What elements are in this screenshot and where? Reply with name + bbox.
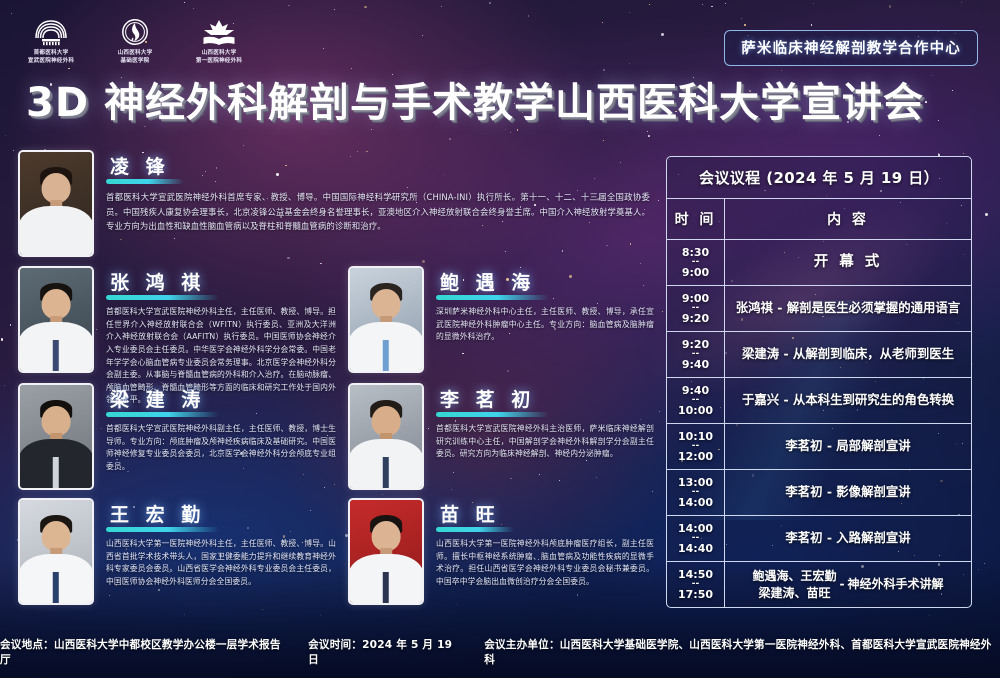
speaker-name: 凌 锋 <box>106 152 174 183</box>
agenda-col-content: 内 容 <box>725 199 971 239</box>
agenda-time-cell: 9:20 -- 9:40 <box>667 332 725 377</box>
speaker-card-liangjiantao: 梁 建 涛 首都医科大学宣武医院神经外科副主任，主任医师、教授，博士生导师。专业… <box>18 383 336 490</box>
speaker-info: 苗 旺 山西医科大学第一医院神经外科颅底肿瘤医疗组长，副主任医师。擅长中枢神经系… <box>436 498 654 605</box>
agenda-row: 9:40 -- 10:00 于嘉兴 - 从本科生到研究生的角色转换 <box>667 378 971 424</box>
shoudu-university-logo-icon <box>34 18 68 46</box>
speaker-card-baoyuhai: 鲍 遇 海 深圳萨米神经外科中心主任，主任医师、教授、博导，承任宣武医院神经外科… <box>348 266 654 373</box>
logo-caption: 山西医科大学 基础医学院 <box>118 49 153 65</box>
speaker-info: 王 宏 勤 山西医科大学第一医院神经外科主任，主任医师、教授、博导。山西省首批学… <box>106 498 336 605</box>
agenda-row: 13:00 -- 14:00 李茗初 - 影像解剖宣讲 <box>667 470 971 516</box>
shanxi-medical-university-logo-icon <box>120 18 150 46</box>
agenda-row: 9:00 -- 9:20 张鸿祺 - 解剖是医生必须掌握的通用语言 <box>667 286 971 332</box>
footer-venue: 会议地点：山西医科大学中都校区教学办公楼一层学术报告厅 <box>0 637 290 667</box>
poster-canvas: 首都医科大学 宣武医院神经外科 山西医科大学 基础医学院 山西医科大学 <box>0 0 1000 678</box>
speaker-info: 梁 建 涛 首都医科大学宣武医院神经外科副主任，主任医师、教授，博士生导师。专业… <box>106 383 336 490</box>
agenda-time-end: 9:40 <box>682 359 709 371</box>
agenda-row: 8:30 -- 9:00 开 幕 式 <box>667 240 971 286</box>
agenda-time-end: 14:40 <box>678 543 713 555</box>
shanxi-first-hospital-logo-icon <box>201 18 237 46</box>
speaker-card-limingchu: 李 茗 初 首都医科大学宣武医院神经外科主治医师，萨米临床神经解剖研究训练中心主… <box>348 383 654 490</box>
speaker-card-miaowang: 苗 旺 山西医科大学第一医院神经外科颅底肿瘤医疗组长，副主任医师。擅长中枢神经系… <box>348 498 654 605</box>
agenda-header-row: 时 间 内 容 <box>667 199 971 240</box>
footer-organizers: 会议主办单位：山西医科大学基础医学院、山西医科大学第一医院神经外科、首都医科大学… <box>484 637 1000 667</box>
speaker-bio: 山西医科大学第一医院神经外科主任，主任医师、教授、博导。山西省首批学术技术带头人… <box>106 538 336 589</box>
agenda-time-cell: 14:00 -- 14:40 <box>667 516 725 561</box>
agenda-content-cell: 李茗初 - 局部解剖宣讲 <box>725 424 971 469</box>
speaker-info: 李 茗 初 首都医科大学宣武医院神经外科主治医师，萨米临床神经解剖研究训练中心主… <box>436 383 654 490</box>
agenda-content-cell: 鲍遇海、王宏勤 梁建涛、苗旺 - 神经外科手术讲解 <box>725 562 971 607</box>
agenda-time-end: 17:50 <box>678 589 713 601</box>
speaker-bio: 首都医科大学宣武医院神经外科主治医师，萨米临床神经解剖研究训练中心主任，中国解剖… <box>436 423 654 461</box>
agenda-time-cell: 14:50 -- 17:50 <box>667 562 725 607</box>
speaker-photo <box>348 498 424 605</box>
speaker-name: 苗 旺 <box>436 500 504 531</box>
agenda-separator: - <box>837 577 848 593</box>
speaker-name: 李 茗 初 <box>436 385 539 416</box>
agenda-content-cell: 张鸿祺 - 解剖是医生必须掌握的通用语言 <box>725 286 971 331</box>
agenda-time-end: 10:00 <box>678 405 713 417</box>
speaker-name: 梁 建 涛 <box>106 385 209 416</box>
speaker-info: 凌 锋 首都医科大学宣武医院神经外科首席专家、教授、博导。中国国际神经科学研究所… <box>106 150 650 257</box>
agenda-content-cell: 李茗初 - 影像解剖宣讲 <box>725 470 971 515</box>
agenda-topic: 神经外科手术讲解 <box>847 577 943 593</box>
speaker-photo <box>18 150 94 257</box>
agenda-title: 会议议程 (2024 年 5 月 19 日） <box>667 157 971 199</box>
logo-caption: 山西医科大学 第一医院神经外科 <box>196 49 242 65</box>
speaker-photo <box>18 266 94 373</box>
logo-item: 山西医科大学 第一医院神经外科 <box>190 18 248 65</box>
logo-group: 首都医科大学 宣武医院神经外科 山西医科大学 基础医学院 山西医科大学 <box>22 18 248 65</box>
agenda-time-cell: 13:00 -- 14:00 <box>667 470 725 515</box>
agenda-time-end: 12:00 <box>678 451 713 463</box>
speaker-photo <box>18 498 94 605</box>
speaker-bio: 深圳萨米神经外科中心主任，主任医师、教授、博导，承任宣武医院神经外科肿瘤中心主任… <box>436 306 654 344</box>
agenda-row: 10:10 -- 12:00 李茗初 - 局部解剖宣讲 <box>667 424 971 470</box>
agenda-col-time: 时 间 <box>667 199 725 239</box>
agenda-time-cell: 9:40 -- 10:00 <box>667 378 725 423</box>
speaker-info: 鲍 遇 海 深圳萨米神经外科中心主任，主任医师、教授、博导，承任宣武医院神经外科… <box>436 266 654 373</box>
agenda-table: 会议议程 (2024 年 5 月 19 日） 时 间 内 容 8:30 -- 9… <box>666 156 972 608</box>
speakers-section: 凌 锋 首都医科大学宣武医院神经外科首席专家、教授、博导。中国国际神经科学研究所… <box>18 150 654 612</box>
speaker-card-wanghongqin: 王 宏 勤 山西医科大学第一医院神经外科主任，主任医师、教授、博导。山西省首批学… <box>18 498 336 605</box>
agenda-speaker-names: 鲍遇海、王宏勤 梁建涛、苗旺 <box>752 568 836 600</box>
speaker-bio: 首都医科大学宣武医院神经外科首席专家、教授、博导。中国国际神经科学研究所（CHI… <box>106 190 650 234</box>
agenda-time-end: 9:00 <box>682 267 709 279</box>
speaker-photo <box>18 383 94 490</box>
speaker-name: 王 宏 勤 <box>106 500 209 531</box>
speaker-name: 鲍 遇 海 <box>436 268 539 299</box>
speaker-photo <box>348 266 424 373</box>
agenda-time-cell: 8:30 -- 9:00 <box>667 240 725 285</box>
agenda-content-cell: 于嘉兴 - 从本科生到研究生的角色转换 <box>725 378 971 423</box>
logo-item: 首都医科大学 宣武医院神经外科 <box>22 18 80 65</box>
agenda-time-end: 9:20 <box>682 313 709 325</box>
page-title: 3D 神经外科解剖与手术教学山西医科大学宣讲会 <box>26 83 974 123</box>
speaker-photo <box>348 383 424 490</box>
agenda-content-cell: 梁建涛 - 从解剖到临床，从老师到医生 <box>725 332 971 377</box>
agenda-content-cell: 开 幕 式 <box>725 240 971 285</box>
footer-bar: 会议地点：山西医科大学中都校区教学办公楼一层学术报告厅 会议时间：2024 年 … <box>0 625 1000 678</box>
logo-item: 山西医科大学 基础医学院 <box>106 18 164 65</box>
speaker-name: 张 鸿 祺 <box>106 268 209 299</box>
agenda-row: 14:50 -- 17:50 鲍遇海、王宏勤 梁建涛、苗旺 - 神经外科手术讲解 <box>667 562 971 607</box>
footer-time: 会议时间：2024 年 5 月 19 日 <box>308 637 466 667</box>
agenda-time-cell: 9:00 -- 9:20 <box>667 286 725 331</box>
agenda-row: 9:20 -- 9:40 梁建涛 - 从解剖到临床，从老师到医生 <box>667 332 971 378</box>
agenda-content-cell: 李茗初 - 入路解剖宣讲 <box>725 516 971 561</box>
agenda-time-cell: 10:10 -- 12:00 <box>667 424 725 469</box>
speaker-bio: 山西医科大学第一医院神经外科颅底肿瘤医疗组长，副主任医师。擅长中枢神经系统肿瘤、… <box>436 538 654 589</box>
agenda-time-end: 14:00 <box>678 497 713 509</box>
logo-caption: 首都医科大学 宣武医院神经外科 <box>28 49 74 65</box>
partner-center-badge: 萨米临床神经解剖教学合作中心 <box>724 30 978 66</box>
agenda-row: 14:00 -- 14:40 李茗初 - 入路解剖宣讲 <box>667 516 971 562</box>
speaker-bio: 首都医科大学宣武医院神经外科副主任，主任医师、教授，博士生导师。专业方向：颅底肿… <box>106 423 336 474</box>
speaker-card-lingfeng: 凌 锋 首都医科大学宣武医院神经外科首席专家、教授、博导。中国国际神经科学研究所… <box>18 150 650 257</box>
